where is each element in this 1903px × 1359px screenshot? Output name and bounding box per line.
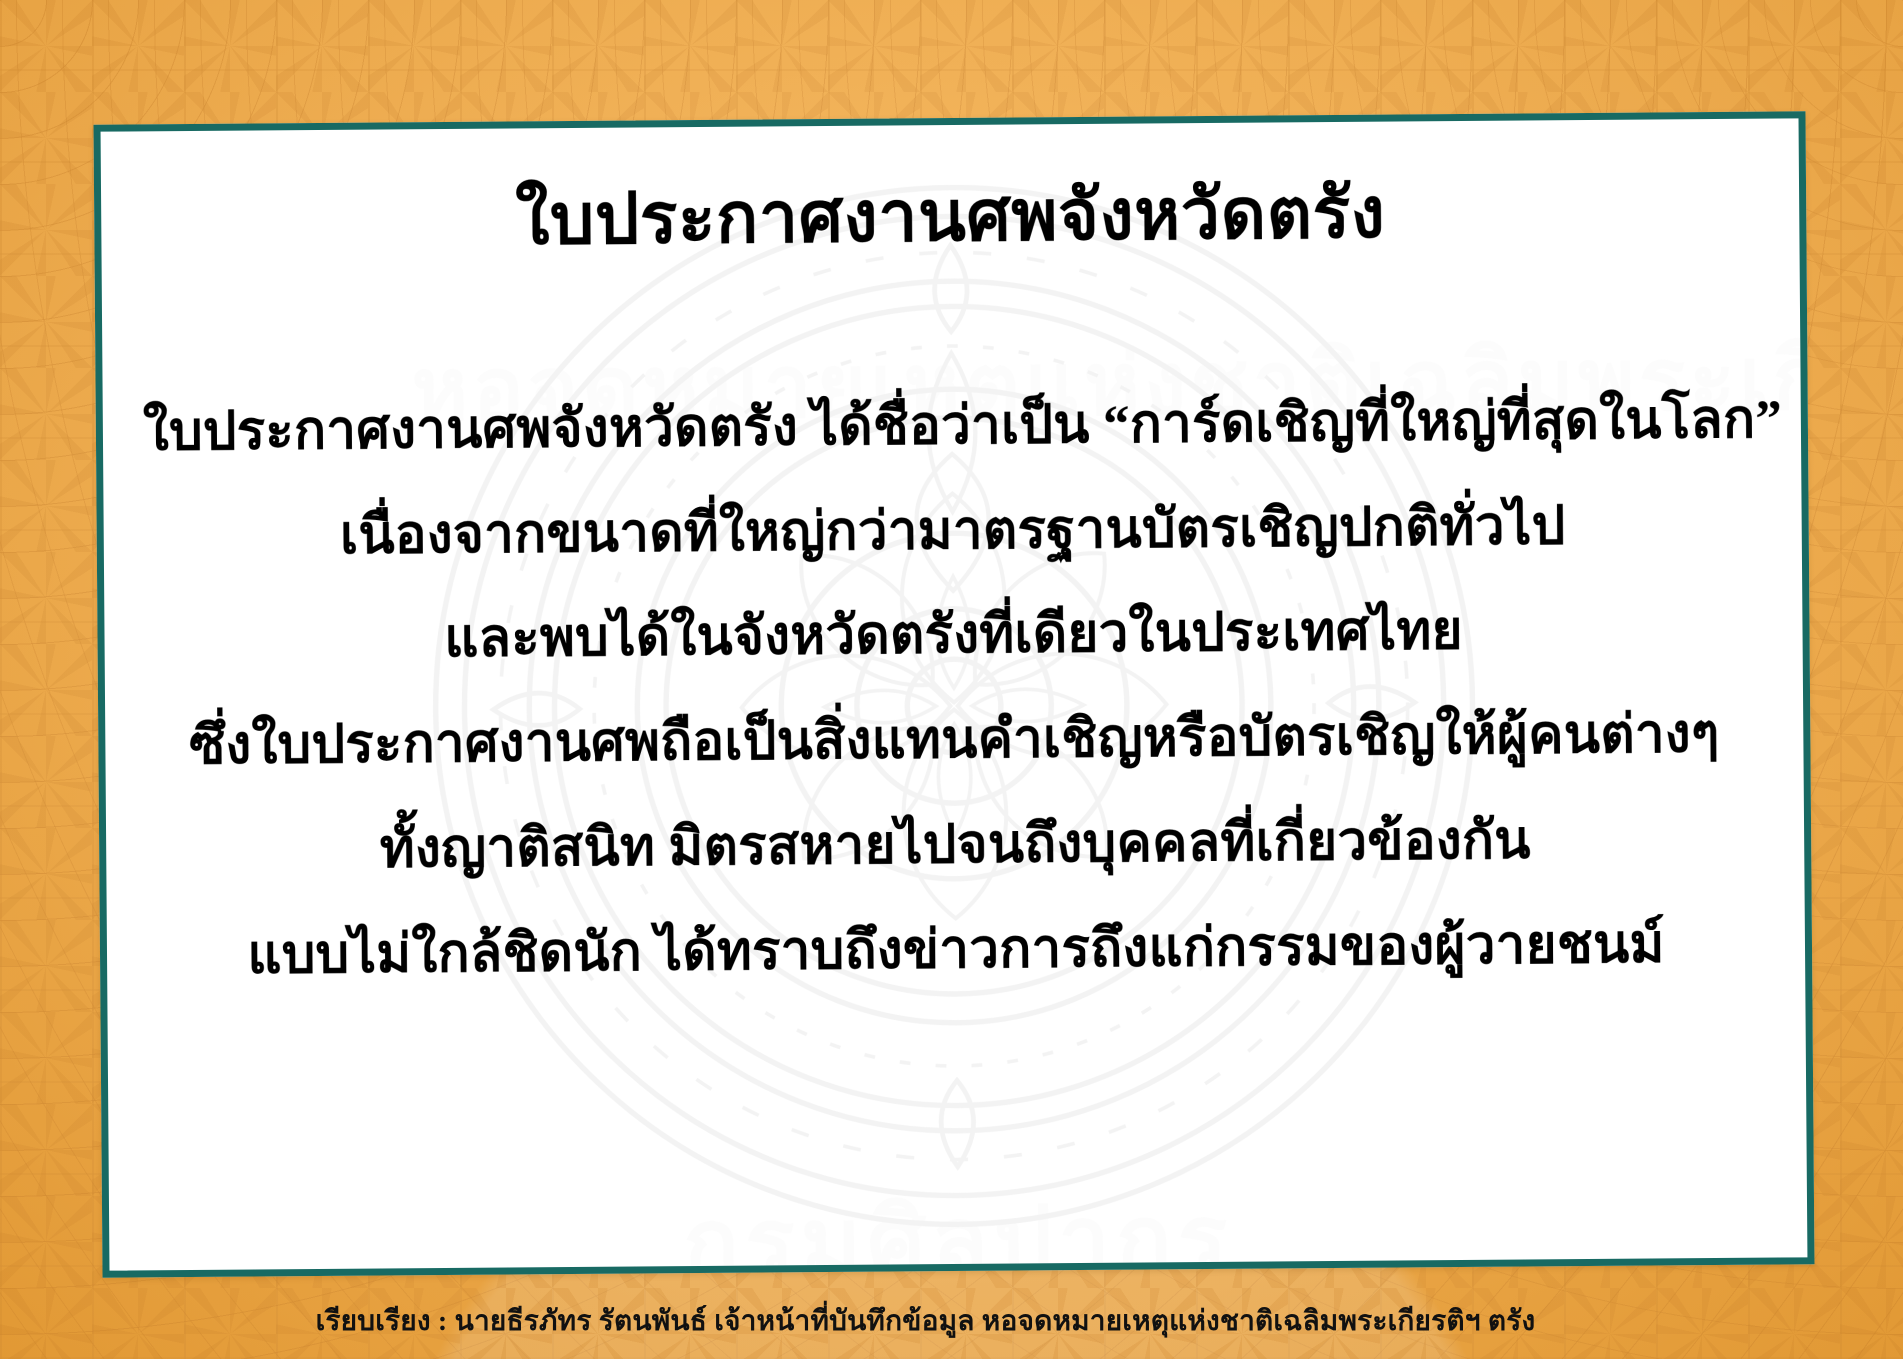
watermark-bottom-text: กรมศิลปากร — [418, 1162, 1499, 1278]
body-line: ซึ่งใบประกาศงานศพถือเป็นสิ่งแทนคำเชิญหรื… — [145, 682, 1764, 800]
body-line: ทั้งญาติสนิท มิตรสหายไปจนถึงบุคคลที่เกี่… — [146, 787, 1765, 905]
credit-line: เรียบเรียง : นายธีรภัทร รัตนพันธ์ เจ้าหน… — [0, 1299, 1903, 1343]
body-text: ใบประกาศงานศพจังหวัดตรัง ได้ชื่อว่าเป็น … — [143, 367, 1766, 1009]
announcement-card-wrapper: หอจดหมายเหตุแห่งชาติเฉลิมพระเกียรติ กรมศ… — [93, 111, 1814, 1277]
body-line: แบบไม่ใกล้ชิดนัก ได้ทราบถึงข่าวการถึงแก่… — [147, 892, 1766, 1010]
page-title: ใบประกาศงานศพจังหวัดตรัง — [141, 174, 1760, 262]
body-line: และพบได้ในจังหวัดตรังที่เดียวในประเทศไทย — [144, 577, 1763, 695]
body-line: ใบประกาศงานศพจังหวัดตรัง ได้ชื่อว่าเป็น … — [143, 367, 1762, 485]
announcement-card: หอจดหมายเหตุแห่งชาติเฉลิมพระเกียรติ กรมศ… — [93, 111, 1814, 1277]
card-content: ใบประกาศงานศพจังหวัดตรัง ใบประกาศงานศพจั… — [101, 118, 1806, 1010]
body-line: เนื่องจากขนาดที่ใหญ่กว่ามาตรฐานบัตรเชิญป… — [143, 472, 1762, 590]
